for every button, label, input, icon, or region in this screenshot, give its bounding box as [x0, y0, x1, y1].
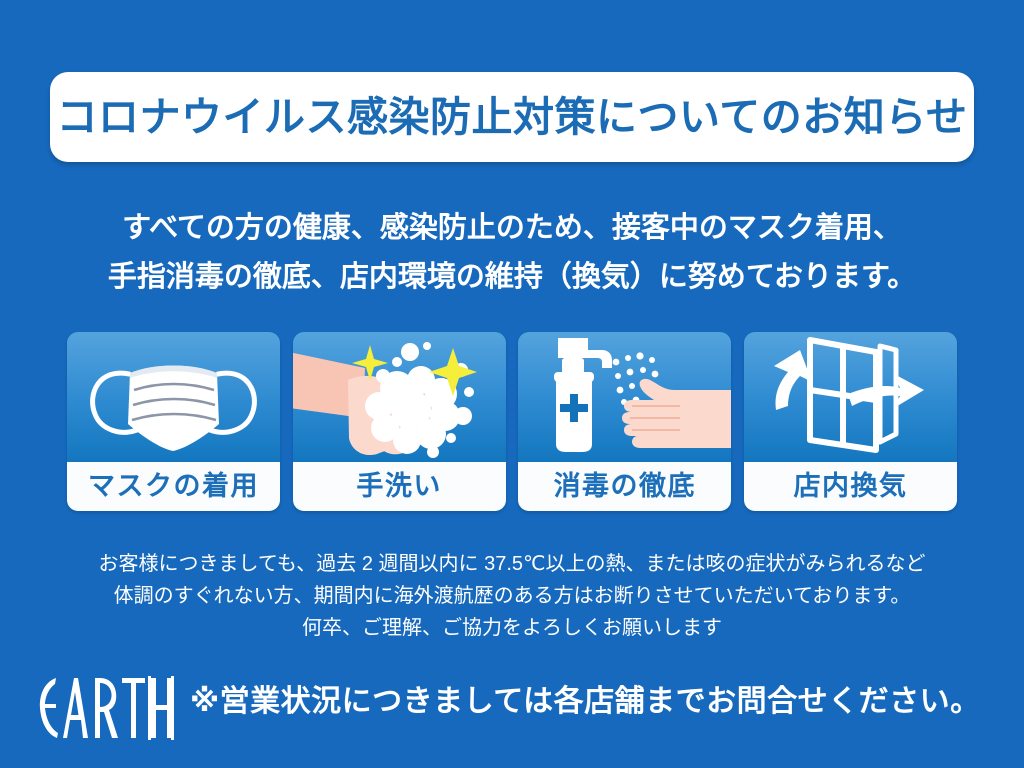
fineprint-line-3: 何卒、ご理解、ご協力をよろしくお願いします: [0, 612, 1024, 644]
window-ventilation-icon: [744, 332, 957, 462]
footer-note: ※営業状況につきましては各店舗までお問合せください。: [190, 678, 990, 726]
measure-label-handwash: 手洗い: [293, 462, 506, 511]
measures-row: マスクの着用: [67, 332, 957, 511]
lead-line-1: すべての方の健康、感染防止のため、接客中のマスク着用、: [0, 204, 1024, 253]
measure-label-ventilation: 店内換気: [744, 462, 957, 511]
hand-washing-icon: [293, 332, 506, 462]
footer: ※営業状況につきましては各店舗までお問合せください。: [0, 662, 1024, 762]
measure-card-handwash: 手洗い: [293, 332, 506, 511]
title-banner: コロナウイルス感染防止対策についてのお知らせ: [50, 72, 974, 162]
fineprint-line-1: お客様につきましても、過去 2 週間以内に 37.5℃以上の熱、または咳の症状が…: [0, 548, 1024, 580]
fineprint-line-2: 体調のすぐれない方、期間内に海外渡航歴のある方はお断りさせていただいております。: [0, 580, 1024, 612]
measure-label-sanitizer: 消毒の徹底: [518, 462, 731, 511]
face-mask-icon: [67, 332, 280, 462]
measure-card-sanitizer: 消毒の徹底: [518, 332, 731, 511]
lead-line-2: 手指消毒の徹底、店内環境の維持（換気）に努めております。: [0, 253, 1024, 302]
lead-paragraph: すべての方の健康、感染防止のため、接客中のマスク着用、 手指消毒の徹底、店内環境…: [0, 204, 1024, 302]
measure-label-text: 店内換気: [793, 473, 907, 500]
fineprint-paragraph: お客様につきましても、過去 2 週間以内に 37.5℃以上の熱、または咳の症状が…: [0, 548, 1024, 644]
hand-sanitizer-icon: [518, 332, 731, 462]
measure-label-text: 手洗い: [356, 473, 442, 500]
page-title: コロナウイルス感染防止対策についてのお知らせ: [57, 97, 968, 138]
measure-card-mask: マスクの着用: [67, 332, 280, 511]
measure-label-mask: マスクの着用: [67, 462, 280, 511]
earth-logo: [34, 670, 174, 742]
covid-notice-poster: コロナウイルス感染防止対策についてのお知らせ すべての方の健康、感染防止のため、…: [0, 0, 1024, 768]
measure-label-text: マスクの着用: [88, 473, 259, 500]
measure-label-text: 消毒の徹底: [554, 473, 697, 500]
measure-card-ventilation: 店内換気: [744, 332, 957, 511]
